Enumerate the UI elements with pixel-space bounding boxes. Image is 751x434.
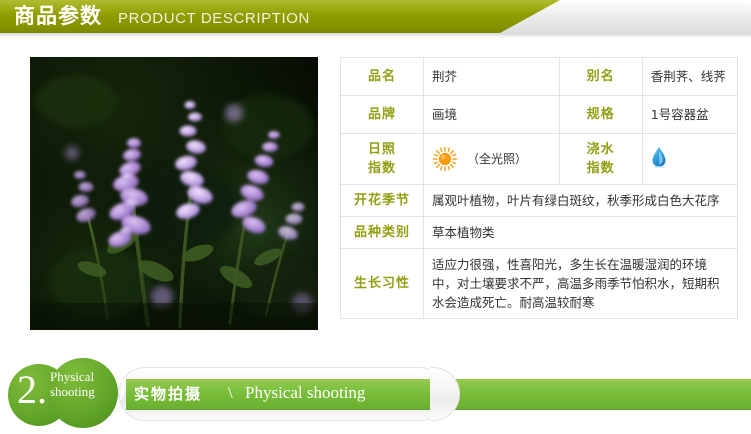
table-row: 开花季节 属观叶植物，叶片有绿白斑纹，秋季形成白色大花序 bbox=[341, 185, 738, 217]
spec-label-watering-line2: 指数 bbox=[568, 159, 634, 178]
table-row: 品牌 画境 规格 1号容器盆 bbox=[341, 96, 738, 134]
banner-title-cn: 实物拍摄 bbox=[134, 383, 202, 405]
spec-value-pinming: 荆芥 bbox=[424, 58, 560, 96]
sun-icon bbox=[432, 146, 458, 172]
spec-label-watering-index: 浇水 指数 bbox=[559, 134, 642, 185]
spec-table: 品名 荆芥 别名 香荆荠、线荠 品牌 画境 规格 1号容器盆 日照 指数 bbox=[340, 57, 738, 319]
table-row: 生长习性 适应力很强，性喜阳光，多生长在温暖湿润的环境中，对土壤要求不严，高温多… bbox=[341, 249, 738, 319]
spec-value-sunlight: （全光照） bbox=[424, 134, 560, 185]
spec-label-sunlight-line2: 指数 bbox=[349, 159, 415, 178]
page-title-en: PRODUCT DESCRIPTION bbox=[118, 5, 310, 32]
spec-label-bieming: 别名 bbox=[559, 58, 642, 96]
product-description-page: 商品参数 PRODUCT DESCRIPTION bbox=[0, 0, 751, 434]
water-drop-icon bbox=[651, 156, 667, 171]
badge-label-en-line1: Physical bbox=[50, 369, 124, 384]
page-title-cn: 商品参数 bbox=[14, 1, 102, 32]
banner-title-separator: \ bbox=[228, 382, 233, 404]
badge-label-en-line2: shooting bbox=[50, 384, 124, 399]
product-photo bbox=[30, 57, 318, 330]
spec-value-growth-habit: 适应力很强，性喜阳光，多生长在温暖湿润的环境中，对土壤要求不严，高温多雨季节怕积… bbox=[424, 249, 738, 319]
badge-paren: ) bbox=[116, 372, 126, 402]
spec-value-guige: 1号容器盆 bbox=[642, 96, 737, 134]
spec-value-pinpai: 画境 bbox=[424, 96, 560, 134]
badge-number: 2. bbox=[17, 370, 47, 410]
section-number-badge: 2. Physical shooting ) bbox=[8, 358, 126, 430]
spec-value-flowering-season: 属观叶植物，叶片有绿白斑纹，秋季形成白色大花序 bbox=[424, 185, 738, 217]
spec-label-sunlight-line1: 日照 bbox=[349, 140, 415, 159]
table-row: 日照 指数 bbox=[341, 134, 738, 185]
spec-value-bieming: 香荆荠、线荠 bbox=[642, 58, 737, 96]
spec-label-pinming: 品名 bbox=[341, 58, 424, 96]
table-row: 品名 荆芥 别名 香荆荠、线荠 bbox=[341, 58, 738, 96]
spec-label-watering-line1: 浇水 bbox=[568, 140, 634, 159]
spec-label-variety-type: 品种类别 bbox=[341, 217, 424, 249]
spec-value-watering bbox=[642, 134, 737, 185]
header-gray-shadow bbox=[0, 33, 751, 38]
section-banner: 实物拍摄 \ Physical shooting 2. Physical sho… bbox=[0, 358, 751, 434]
spec-label-guige: 规格 bbox=[559, 96, 642, 134]
spec-label-pinpai: 品牌 bbox=[341, 96, 424, 134]
spec-value-sunlight-note: （全光照） bbox=[467, 150, 527, 169]
table-row: 品种类别 草本植物类 bbox=[341, 217, 738, 249]
spec-label-sunlight-index: 日照 指数 bbox=[341, 134, 424, 185]
badge-label-en: Physical shooting bbox=[50, 369, 124, 399]
spec-label-growth-habit: 生长习性 bbox=[341, 249, 424, 319]
page-header: 商品参数 PRODUCT DESCRIPTION bbox=[0, 0, 751, 45]
banner-title-en: Physical shooting bbox=[245, 382, 365, 404]
spec-value-variety-type: 草本植物类 bbox=[424, 217, 738, 249]
product-photo-image bbox=[30, 57, 318, 330]
banner-shell-cap bbox=[430, 367, 460, 421]
spec-label-flowering-season: 开花季节 bbox=[341, 185, 424, 217]
